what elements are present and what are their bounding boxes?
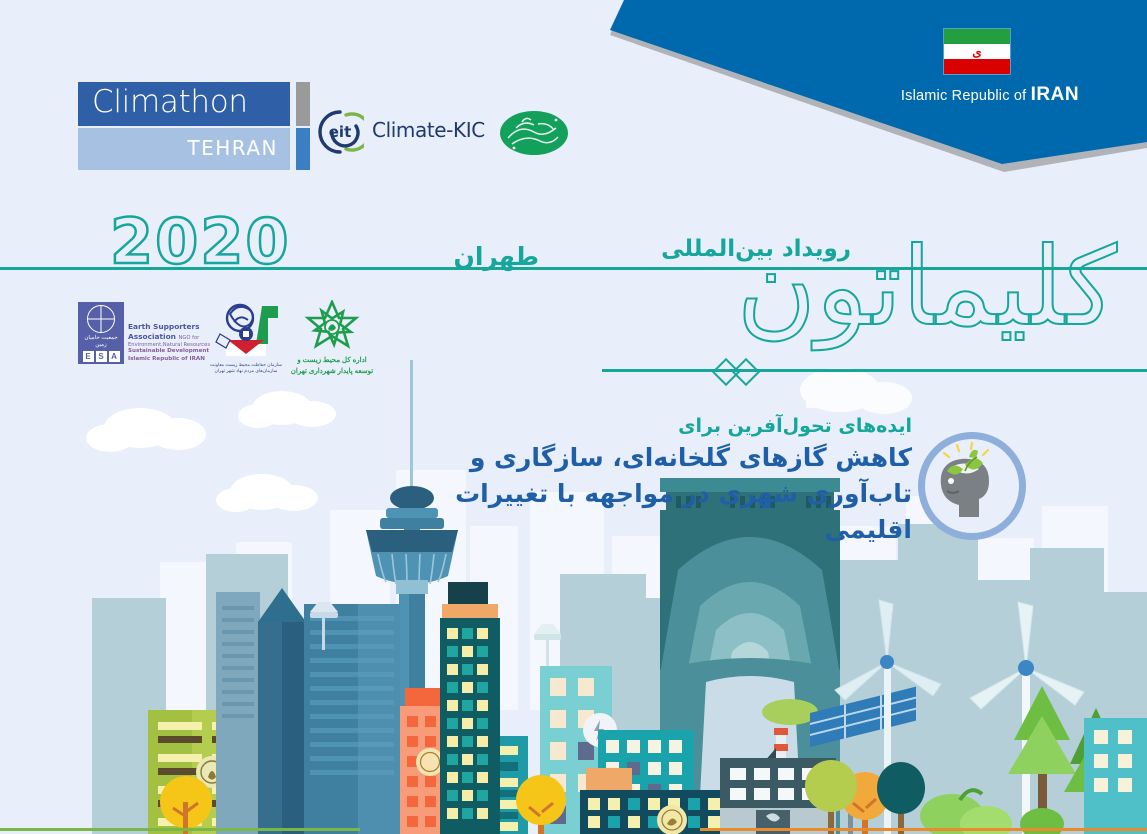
esa-persian-name: جمعیت حامیان زمین [78,335,124,349]
logo-accent-bar-blue [296,128,310,170]
subtitle-line3: تاب‌آوری شهری در مواجهه با تغییرات اقلیم… [452,476,912,549]
environment-org-icon [206,300,286,362]
country-label: Islamic Republic of IRAN [880,84,1100,106]
eco-idea-head-icon [918,432,1026,540]
tehran-seal-icon [498,108,570,158]
country-label-name: IRAN [1031,84,1079,105]
esa-badge-icon: جمعیت حامیان زمین E S A [78,302,124,364]
office-towers [216,588,400,834]
municipality-star-icon [284,300,380,358]
esa-line3: Environment,Natural Resources [128,342,212,349]
logo-accent-bar-gray [296,82,310,126]
climathon-city: TEHRAN [187,136,278,160]
esa-letter-s: S [96,351,107,362]
municipality-caption-line1: اداره کل محیط زیست و [284,356,380,367]
head-leaf-glyph [925,439,1005,519]
iran-emblem-icon: ی [972,46,981,58]
persian-title-superline: رویداد بین‌المللی [661,236,851,262]
esa-line2: Association [128,332,176,341]
persian-title-main: کلیماتون [737,234,1117,342]
year-label: 2020 [110,205,291,278]
esa-line4: Sustainable Development [128,348,212,355]
esa-text-block: Earth Supporters Association NGO for Env… [128,322,212,363]
cityscape-illustration [0,330,1147,834]
climathon-tehran-2020-poster: ی Islamic Republic of IRAN Climathon TEH… [0,0,1147,834]
esa-letters: E S A [83,351,120,362]
esa-line1: Earth Supporters [128,322,212,332]
sponsor-logo-row: جمعیت حامیان زمین E S A Earth Supporters… [78,300,378,382]
sponsor-environment-logo[interactable]: سازمان حفاظت محیط زیست معاونت سازمان‌های… [206,300,286,367]
municipality-caption: اداره کل محیط زیست و توسعه پایدار شهردار… [284,356,380,377]
subtitle-line2: کاهش گازهای گلخانه‌ای، سازگاری و [452,440,912,476]
esa-line5: Islamic Republic of IRAN [128,356,212,363]
globe-icon [87,305,115,333]
divider-rule-bottom [602,369,1147,372]
right-pale-building [1084,718,1147,834]
svg-text:eit: eit [329,123,352,141]
sponsor-municipality-logo[interactable]: اداره کل محیط زیست و توسعه پایدار شهردار… [284,300,380,363]
country-banner [610,0,1147,164]
climathon-logo[interactable]: Climathon TEHRAN [78,82,310,170]
climathon-title: Climathon [92,84,248,120]
environment-org-caption: سازمان حفاظت محیط زیست معاونت سازمان‌های… [206,362,286,375]
eit-climate-kic-logo[interactable]: eit Climate-KIC [316,106,486,158]
subtitle-line1: ایده‌های تحول‌آفرین برای [452,414,912,440]
iran-flag-icon: ی [943,28,1011,75]
municipality-caption-line2: توسعه پایدار شهرداری تهران [284,367,380,378]
footer-rule-green [0,828,360,831]
subtitle-block: ایده‌های تحول‌آفرین برای کاهش گازهای گلخ… [452,414,912,548]
esa-line2-small: NGO for [178,335,199,341]
eit-label: Climate-KIC [372,118,485,142]
climathon-title-block: Climathon [78,82,290,126]
climathon-city-block: TEHRAN [78,128,290,170]
esa-letter-e: E [83,351,94,362]
dark-teal-highrise [440,582,500,834]
eit-circle-icon: eit [316,108,364,156]
footer-rule-orange [700,828,1147,831]
esa-letter-a: A [109,351,120,362]
country-label-prefix: Islamic Republic of [901,88,1031,104]
